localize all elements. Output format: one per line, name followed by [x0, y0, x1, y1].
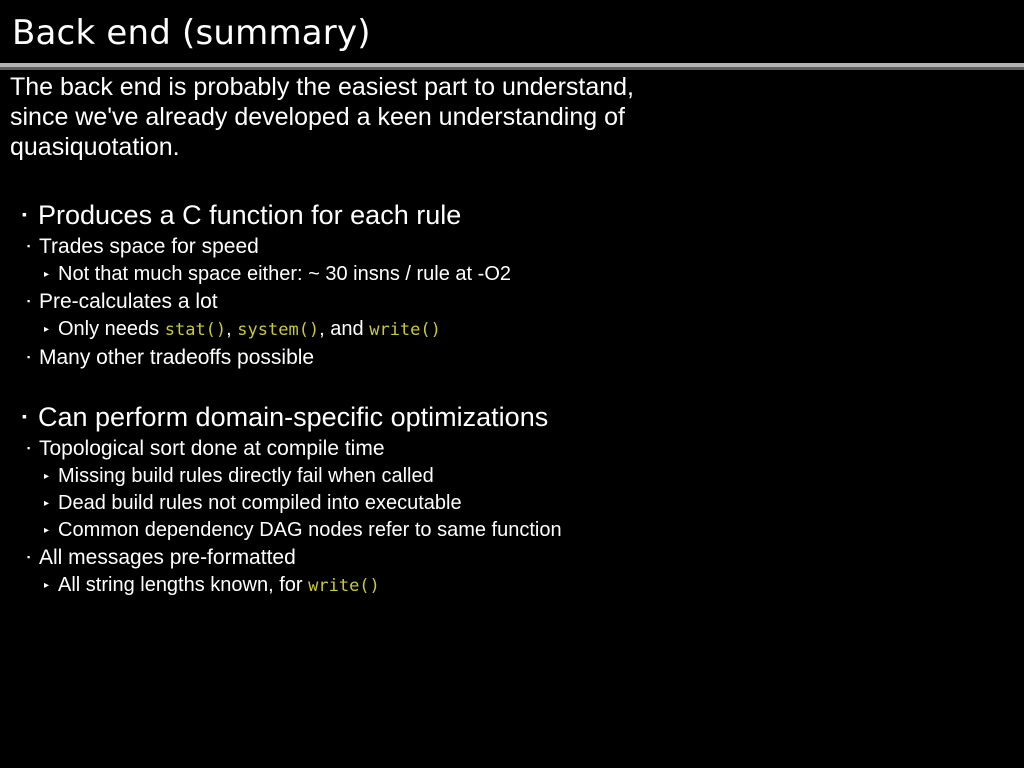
- bullet-level3-only-needs-syscalls: ▸ Only needs stat(), system(), and write…: [0, 316, 1024, 344]
- intro-line-2: since we've already developed a keen und…: [10, 102, 1024, 132]
- bullet-text: Dead build rules not compiled into execu…: [58, 490, 462, 517]
- bullet-text-separator-1: ,: [226, 318, 237, 340]
- bullet-level2-pre-calculates: ▪ Pre-calculates a lot: [0, 288, 1024, 316]
- bullet-text: Many other tradeoffs possible: [39, 344, 314, 372]
- slide-title: Back end (summary): [12, 13, 371, 53]
- title-divider: [0, 63, 1024, 70]
- code-stat: stat(): [165, 320, 226, 340]
- code-write: write(): [308, 576, 380, 596]
- bullet-text: All messages pre-formatted: [39, 544, 296, 572]
- code-system: system(): [237, 320, 319, 340]
- slide-title-bar: Back end (summary): [0, 0, 1024, 63]
- bullet-level3-missing-build-rules: ▸ Missing build rules directly fail when…: [0, 463, 1024, 490]
- small-square-bullet-icon: ▪: [27, 444, 39, 453]
- bullet-text: Can perform domain-specific optimization…: [38, 400, 548, 434]
- bullet-group-2: ▪ Can perform domain-specific optimizati…: [0, 400, 1024, 600]
- bullet-text: Only needs stat(), system(), and write(): [58, 316, 441, 344]
- bullet-text: Common dependency DAG nodes refer to sam…: [58, 517, 562, 544]
- bullet-text-prefix: All string lengths known, for: [58, 574, 308, 596]
- small-square-bullet-icon: ▪: [27, 553, 39, 562]
- divider-dark-band: [0, 67, 1024, 70]
- bullet-level3-common-dependency-dag: ▸ Common dependency DAG nodes refer to s…: [0, 517, 1024, 544]
- bullet-level2-all-messages-preformatted: ▪ All messages pre-formatted: [0, 544, 1024, 572]
- bullet-level3-not-that-much-space: ▸ Not that much space either: ~ 30 insns…: [0, 261, 1024, 288]
- small-square-bullet-icon: ▪: [27, 242, 39, 251]
- bullet-level3-dead-build-rules: ▸ Dead build rules not compiled into exe…: [0, 490, 1024, 517]
- triangle-bullet-icon: ▸: [44, 270, 58, 280]
- square-bullet-icon: ▪: [22, 409, 38, 423]
- presentation-slide: Back end (summary) The back end is proba…: [0, 0, 1024, 768]
- triangle-bullet-icon: ▸: [44, 472, 58, 482]
- bullet-text: Missing build rules directly fail when c…: [58, 463, 434, 490]
- bullet-text-prefix: Only needs: [58, 318, 165, 340]
- bullet-text: Trades space for speed: [39, 233, 259, 261]
- triangle-bullet-icon: ▸: [44, 499, 58, 509]
- intro-line-1: The back end is probably the easiest par…: [10, 72, 1024, 102]
- bullet-level2-topological-sort: ▪ Topological sort done at compile time: [0, 435, 1024, 463]
- small-square-bullet-icon: ▪: [27, 297, 39, 306]
- code-write: write(): [369, 320, 441, 340]
- bullet-text: Produces a C function for each rule: [38, 198, 461, 232]
- bullet-level2-trades-space: ▪ Trades space for speed: [0, 233, 1024, 261]
- intro-paragraph: The back end is probably the easiest par…: [0, 72, 1024, 162]
- bullet-level3-all-string-lengths-known: ▸ All string lengths known, for write(): [0, 572, 1024, 600]
- bullet-text: All string lengths known, for write(): [58, 572, 380, 600]
- bullet-list: ▪ Produces a C function for each rule ▪ …: [0, 198, 1024, 600]
- bullet-group-1: ▪ Produces a C function for each rule ▪ …: [0, 198, 1024, 372]
- slide-body: The back end is probably the easiest par…: [0, 72, 1024, 600]
- triangle-bullet-icon: ▸: [44, 526, 58, 536]
- small-square-bullet-icon: ▪: [27, 353, 39, 362]
- bullet-level1-domain-specific-optimizations: ▪ Can perform domain-specific optimizati…: [0, 400, 1024, 434]
- triangle-bullet-icon: ▸: [44, 581, 58, 591]
- bullet-level1-produces-c-function: ▪ Produces a C function for each rule: [0, 198, 1024, 232]
- triangle-bullet-icon: ▸: [44, 325, 58, 335]
- bullet-text-separator-2: , and: [319, 318, 369, 340]
- intro-line-3: quasiquotation.: [10, 132, 1024, 162]
- square-bullet-icon: ▪: [22, 207, 38, 221]
- bullet-text: Topological sort done at compile time: [39, 435, 385, 463]
- bullet-text: Not that much space either: ~ 30 insns /…: [58, 261, 511, 288]
- bullet-text: Pre-calculates a lot: [39, 288, 218, 316]
- bullet-level2-many-other-tradeoffs: ▪ Many other tradeoffs possible: [0, 344, 1024, 372]
